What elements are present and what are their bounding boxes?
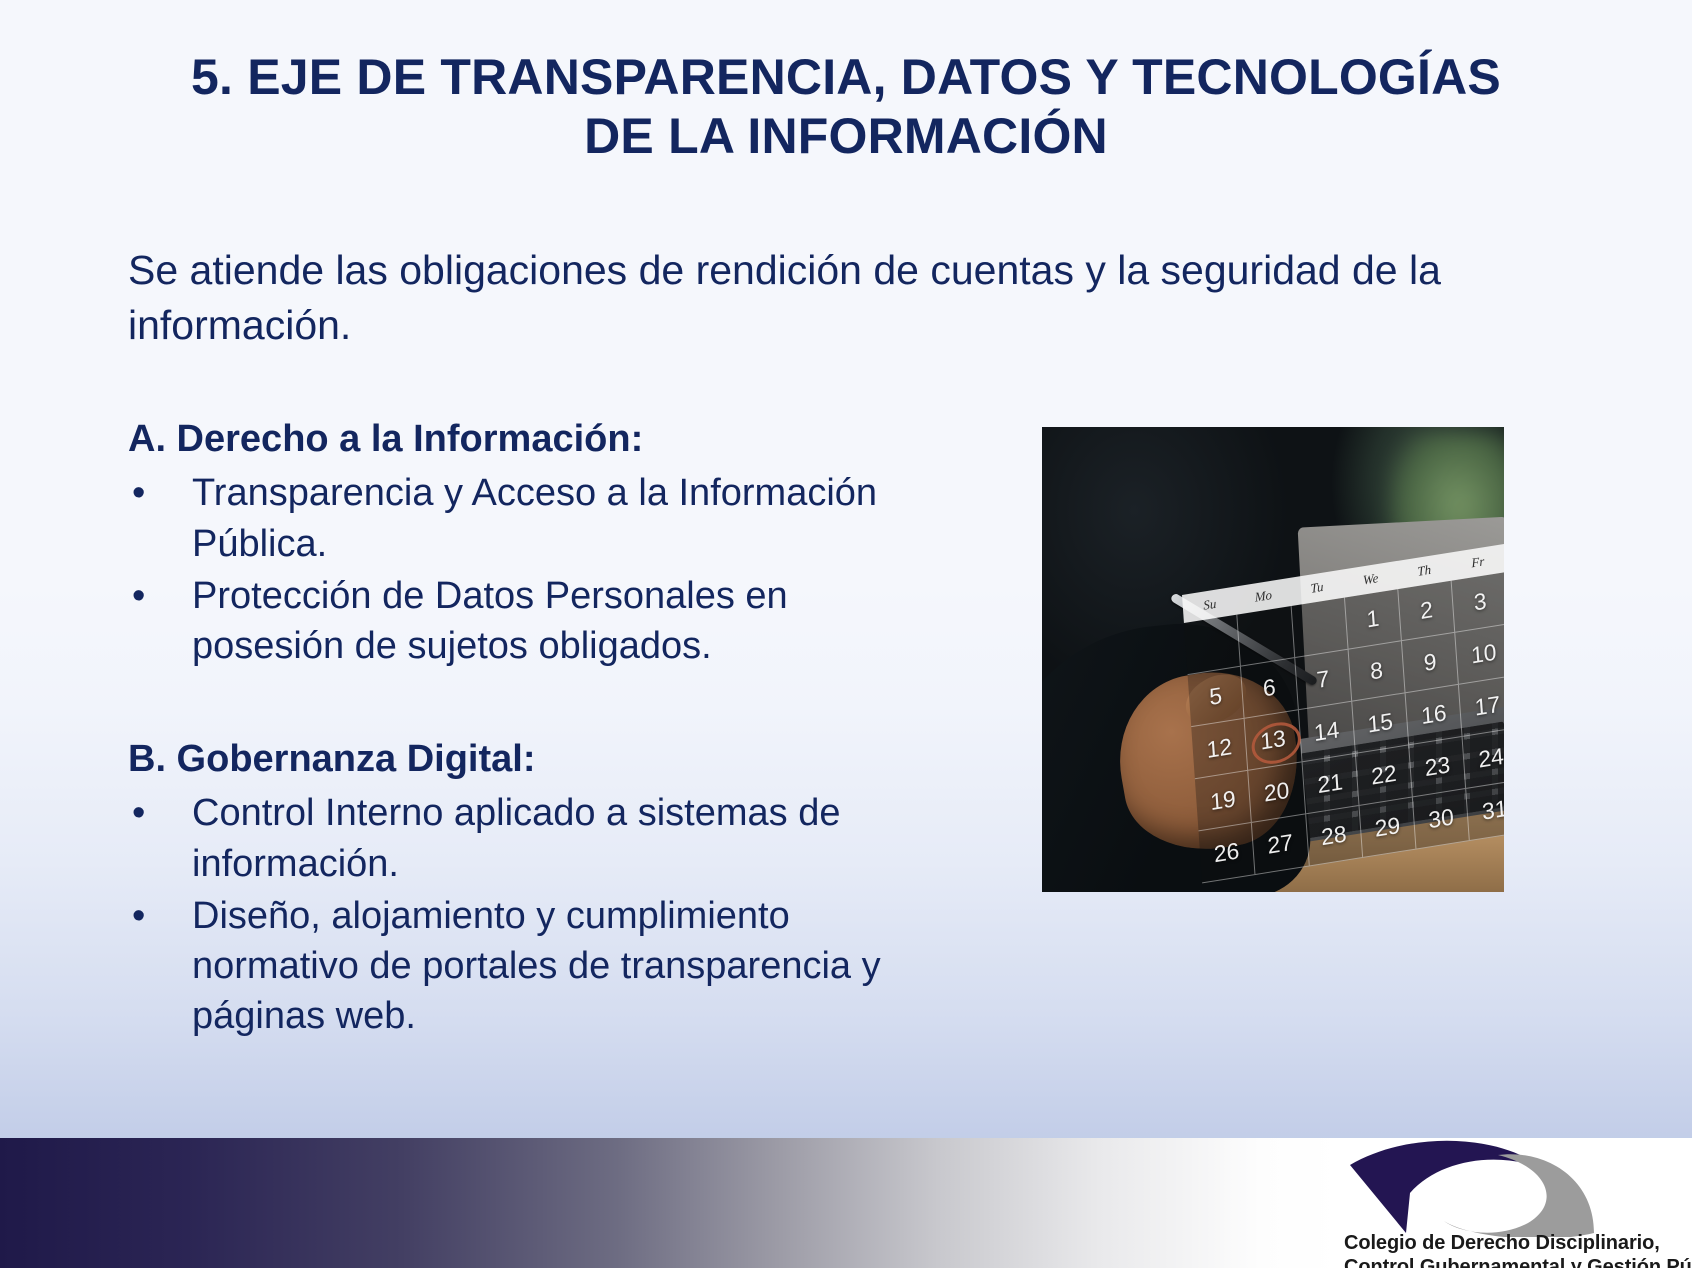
section-heading-b: B. Gobernanza Digital: [128, 735, 928, 784]
calendar-day-cell: 31 [1467, 780, 1504, 841]
calendar-weekday: Fr [1451, 550, 1504, 575]
page-title: 5. EJE DE TRANSPARENCIA, DATOS Y TECNOLO… [96, 48, 1596, 166]
bullet-dot-icon: • [132, 891, 145, 941]
calendar-day-cell: 22 [1356, 745, 1413, 806]
calendar-day-cell: 24 [1463, 728, 1504, 789]
calendar-day-cell: 28 [1306, 806, 1363, 867]
calendar-day-cell: 2 [1398, 581, 1455, 642]
calendar-day-cell: 17 [1459, 676, 1504, 737]
calendar-weekday: Tu [1290, 576, 1345, 601]
calendar-day-cell: 26 [1199, 823, 1256, 884]
list-item-text: Protección de Datos Personales en posesi… [192, 575, 788, 667]
logo-caption-line-1: Colegio de Derecho Disciplinario, [1344, 1232, 1692, 1256]
logo-caption: Colegio de Derecho Disciplinario, Contro… [1344, 1232, 1692, 1268]
list-item-text: Transparencia y Acceso a la Información … [192, 472, 877, 564]
bullet-dot-icon: • [132, 571, 145, 621]
colegio-logo-icon [1348, 1137, 1596, 1237]
content-column: A. Derecho a la Información: • Transpare… [128, 415, 928, 1043]
calendar-day-cell: 27 [1252, 814, 1309, 875]
section-heading-a: A. Derecho a la Información: [128, 415, 928, 464]
calendar-day-cell: 15 [1352, 693, 1409, 754]
bullet-list-b: • Control Interno aplicado a sistemas de… [128, 788, 928, 1041]
section-spacer [128, 673, 928, 735]
calendar-day-cell: 9 [1402, 633, 1459, 694]
calendar-day-cell: 8 [1348, 641, 1405, 702]
calendar-day-cell: 1 [1345, 589, 1402, 650]
calendar-day-cell: 13 [1245, 710, 1302, 771]
footer-logo-panel: Colegio de Derecho Disciplinario, Contro… [1340, 1138, 1692, 1268]
calendar-weekday: Su [1182, 593, 1237, 618]
list-item: • Diseño, alojamiento y cumplimiento nor… [128, 891, 928, 1041]
intro-paragraph: Se atiende las obligaciones de rendición… [128, 243, 1508, 352]
calendar-day-cell [1184, 615, 1241, 676]
bullet-list-a: • Transparencia y Acceso a la Informació… [128, 468, 928, 671]
calendar-day-cell: 21 [1302, 754, 1359, 815]
title-line-1: 5. EJE DE TRANSPARENCIA, DATOS Y TECNOLO… [96, 48, 1596, 107]
calendar-weekday: Th [1397, 559, 1452, 584]
list-item: • Control Interno aplicado a sistemas de… [128, 788, 928, 888]
calendar-day-cell: 20 [1248, 762, 1305, 823]
holographic-calendar: SuMoTuWeThFrSa 1234567891011121314151617… [1182, 536, 1504, 892]
slide-canvas: 5. EJE DE TRANSPARENCIA, DATOS Y TECNOLO… [0, 0, 1692, 1268]
calendar-day-cell: 14 [1298, 702, 1355, 763]
calendar-day-cell [1291, 598, 1348, 659]
list-item: • Protección de Datos Personales en pose… [128, 571, 928, 671]
calendar-day-cell: 12 [1191, 719, 1248, 780]
calendar-day-cell: 16 [1406, 685, 1463, 746]
calendar-day-cell [1238, 606, 1295, 667]
calendar-day-cell: 5 [1188, 667, 1245, 728]
calendar-day-cell: 10 [1456, 624, 1504, 685]
calendar-day-cell: 19 [1195, 771, 1252, 832]
bullet-dot-icon: • [132, 788, 145, 838]
calendar-weekday: We [1343, 567, 1398, 592]
calendar-day-cell: 30 [1413, 789, 1470, 850]
list-item-text: Diseño, alojamiento y cumplimiento norma… [192, 895, 881, 1037]
calendar-day-cell: 23 [1409, 737, 1466, 798]
footer-gradient-bar [0, 1138, 1340, 1268]
bullet-dot-icon: • [132, 468, 145, 518]
calendar-day-cell: 7 [1295, 650, 1352, 711]
calendar-photo: SuMoTuWeThFrSa 1234567891011121314151617… [1042, 427, 1504, 892]
list-item: • Transparencia y Acceso a la Informació… [128, 468, 928, 568]
title-line-2: DE LA INFORMACIÓN [96, 107, 1596, 166]
calendar-day-cell: 6 [1241, 658, 1298, 719]
calendar-day-cell: 3 [1452, 572, 1504, 633]
calendar-day-cell: 29 [1359, 797, 1416, 858]
logo-caption-line-2: Control Gubernamental y Gestión Pública,… [1344, 1256, 1692, 1268]
calendar-weekday: Mo [1236, 584, 1291, 609]
list-item-text: Control Interno aplicado a sistemas de i… [192, 792, 840, 884]
